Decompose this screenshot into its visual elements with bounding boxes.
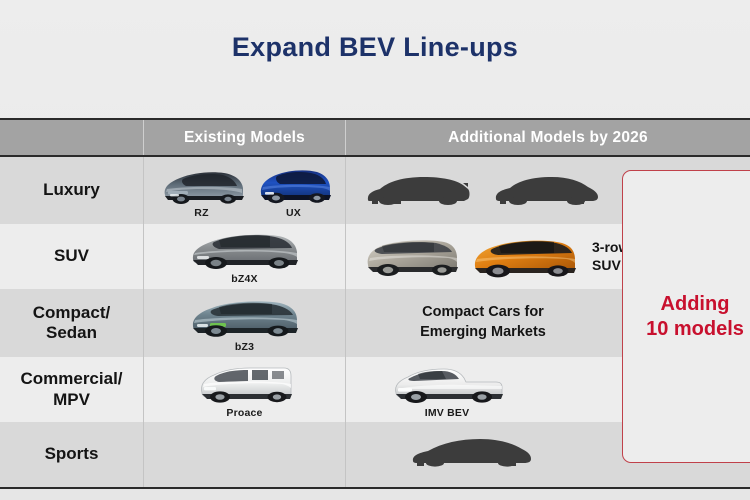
row-category-compact-sedan: Compact/ Sedan <box>0 289 143 357</box>
car-silhouette-wagon-icon <box>364 170 474 210</box>
model-ux: UX <box>254 162 334 219</box>
model-bz4x: bZ4X <box>186 228 304 285</box>
row-existing-commercial-mpv: Proace <box>143 357 345 422</box>
callout-line-1: Adding <box>646 292 744 316</box>
model-badge: bZ4X <box>231 273 257 285</box>
row-existing-suv: bZ4X <box>143 224 345 289</box>
model-badge: Proace <box>226 407 262 419</box>
model-imv-bev: IMV BEV <box>386 360 508 419</box>
row-category-sports: Sports <box>0 422 143 487</box>
model-badge: UX <box>286 207 301 219</box>
row-category-suv: SUV <box>0 224 143 289</box>
car-photo-proace-van-icon <box>192 360 298 406</box>
car-silhouette-sports-icon <box>408 433 534 475</box>
silhouette-sports <box>408 433 534 476</box>
model-badge: RZ <box>194 207 208 219</box>
car-photo-bz4x-icon <box>186 228 304 272</box>
row-category-luxury: Luxury <box>0 157 143 224</box>
header-additional-label: Additional Models by 2026 <box>448 129 648 147</box>
car-photo-bz3-icon <box>186 294 304 340</box>
model-rz: RZ <box>156 162 248 219</box>
header-existing-label: Existing Models <box>184 129 305 147</box>
row-existing-sports <box>143 422 345 487</box>
category-label: Sports <box>0 422 143 487</box>
callout-line-2: 10 models <box>646 317 744 341</box>
category-label: Luxury <box>0 157 143 224</box>
model-badge: bZ3 <box>235 341 254 353</box>
car-photo-imv-pickup-icon <box>386 360 508 406</box>
car-photo-concept-suv-orange-icon <box>468 233 580 279</box>
silhouette-sedan <box>492 170 602 211</box>
model-bz3: bZ3 <box>186 294 304 353</box>
header-cell-additional: Additional Models by 2026 <box>345 120 750 155</box>
car-photo-concept-suv-silver-icon <box>358 233 464 279</box>
car-photo-lexus-rz-icon <box>156 162 248 206</box>
slide-canvas: Expand BEV Line-ups Existing Models Addi… <box>0 0 750 500</box>
adding-models-callout: Adding 10 models <box>622 170 750 463</box>
row-existing-compact-sedan: bZ3 <box>143 289 345 357</box>
concept-suv-silver <box>358 233 464 280</box>
header-cell-existing: Existing Models <box>143 120 345 155</box>
row-existing-luxury: RZ <box>143 157 345 224</box>
silhouette-wagon <box>364 170 474 211</box>
model-proace: Proace <box>192 360 298 419</box>
callout-text: Adding 10 models <box>646 292 744 341</box>
table-header-row: Existing Models Additional Models by 202… <box>0 120 750 155</box>
page-title: Expand BEV Line-ups <box>0 32 750 63</box>
header-cell-category <box>0 120 143 155</box>
category-label: SUV <box>0 224 143 289</box>
car-silhouette-sedan-icon <box>492 170 602 210</box>
concept-suv-orange <box>468 233 580 280</box>
car-photo-lexus-ux-icon <box>254 162 334 206</box>
category-label: Compact/ Sedan <box>0 289 143 357</box>
row-category-commercial-mpv: Commercial/ MPV <box>0 357 143 422</box>
category-label: Commercial/ MPV <box>0 357 143 422</box>
table-bottom-rule <box>0 487 750 489</box>
model-badge: IMV BEV <box>425 407 470 419</box>
